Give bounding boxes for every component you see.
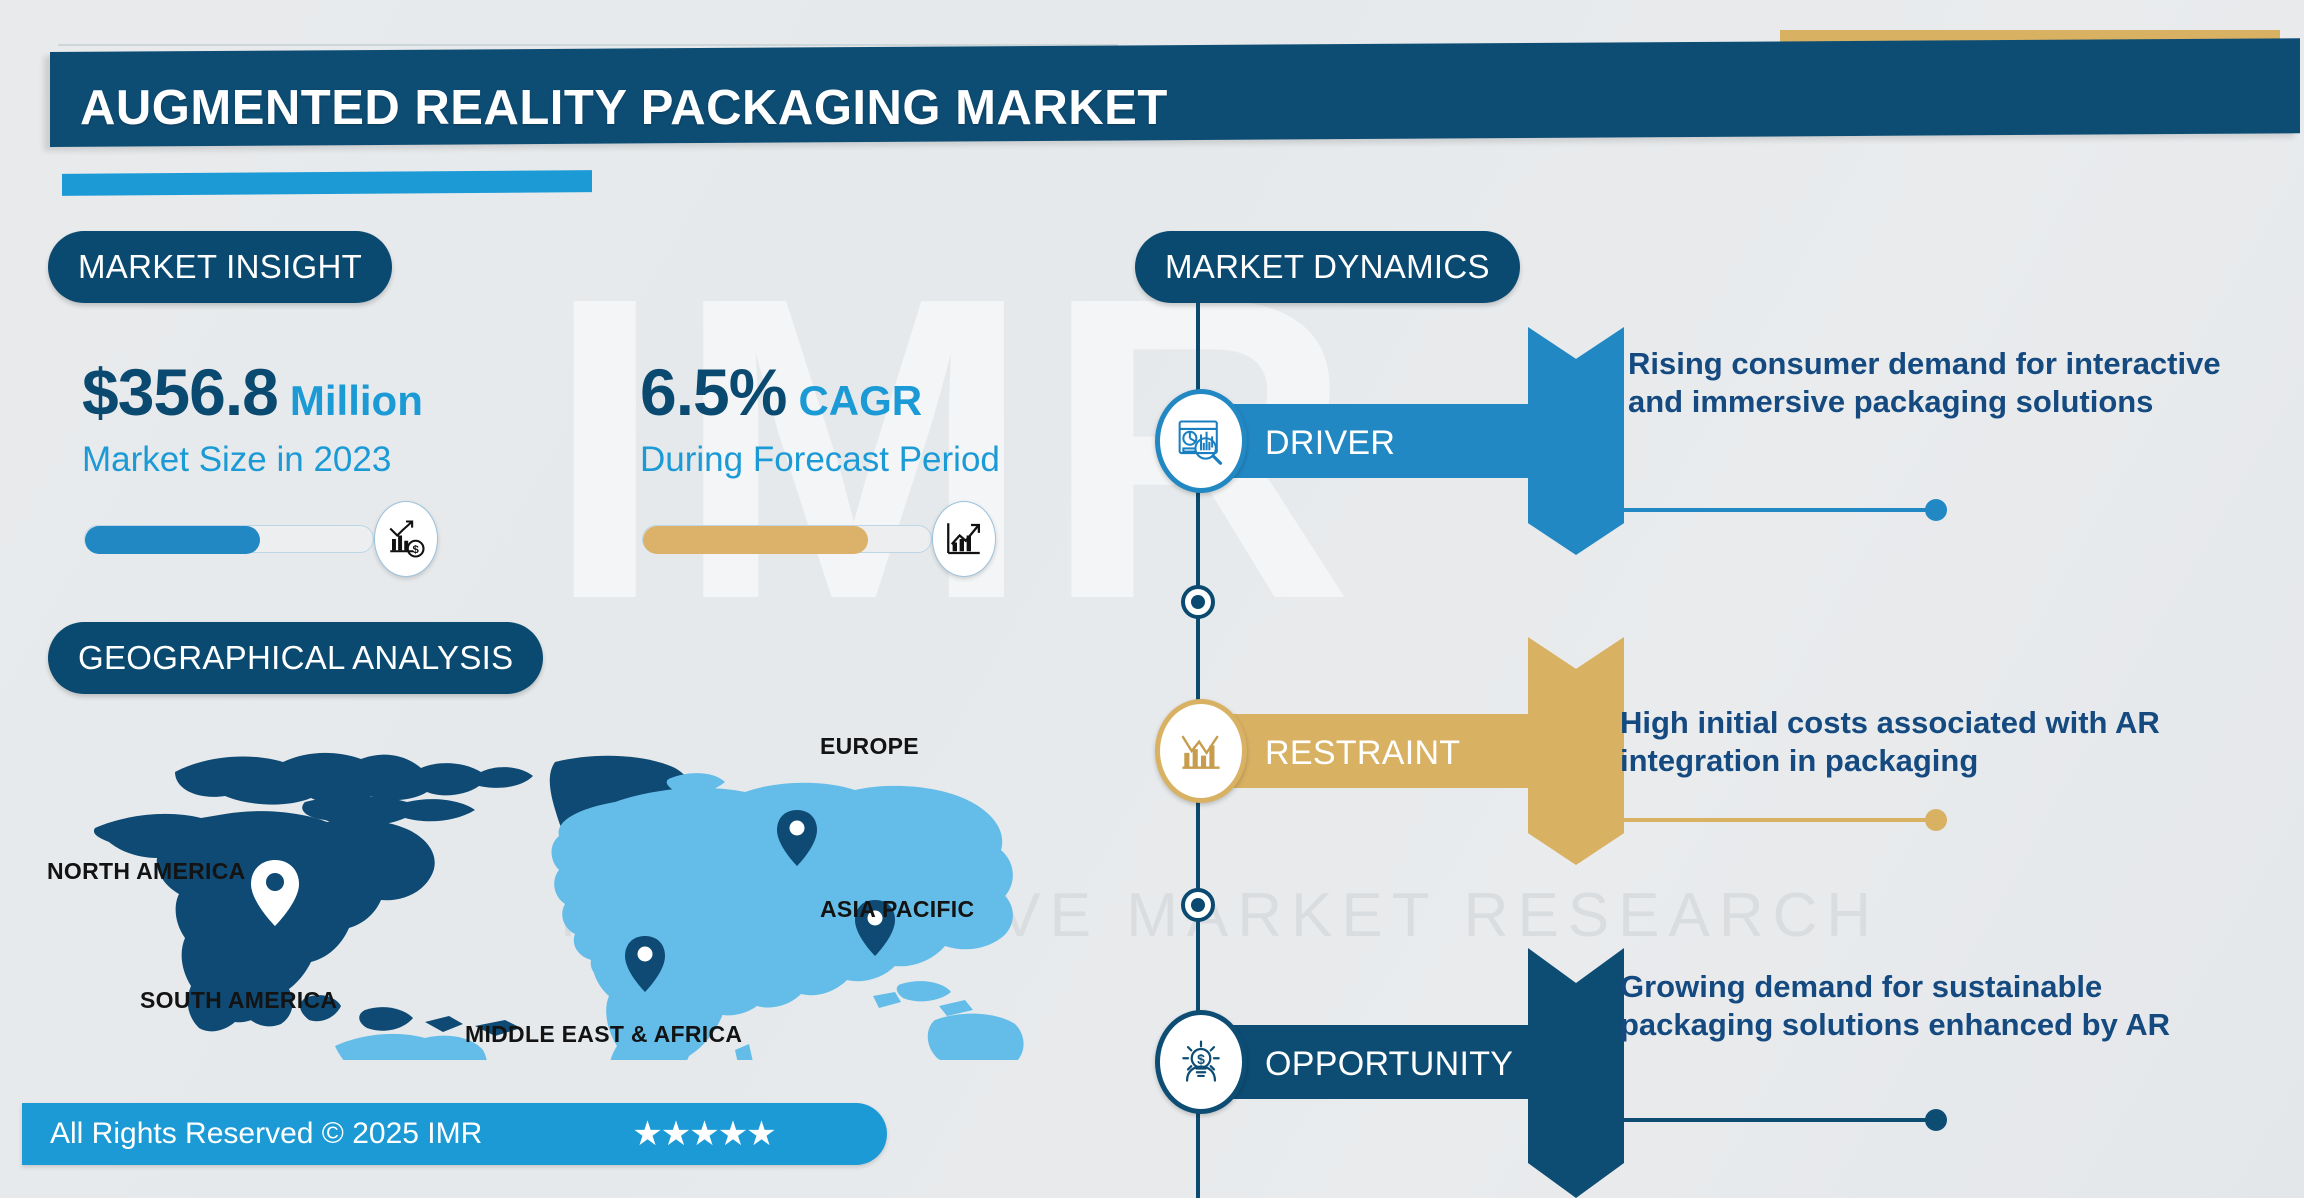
kpi-market-size: $356.8Million Market Size in 2023 <box>82 354 423 480</box>
map-label-south-america: SOUTH AMERICA <box>140 987 337 1014</box>
section-pill-market-dynamics: MARKET DYNAMICS <box>1135 231 1520 303</box>
section-pill-geographical-analysis: GEOGRAPHICAL ANALYSIS <box>48 622 543 694</box>
svg-text:$: $ <box>1197 1051 1205 1067</box>
growth-chart-icon-svg <box>943 518 985 560</box>
kpi-cagr-caption: During Forecast Period <box>640 440 1000 480</box>
restraint-description: High initial costs associated with AR in… <box>1620 704 2260 780</box>
restraint-rule <box>1620 818 1930 822</box>
footer-copyright: All Rights Reserved © 2025 IMR <box>50 1117 482 1151</box>
growth-chart-icon <box>932 501 996 577</box>
kpi-cagr: 6.5%CAGR During Forecast Period <box>640 354 1000 480</box>
declining-bar-chart-icon <box>1155 699 1247 803</box>
driver-description: Rising consumer demand for interactive a… <box>1628 345 2268 421</box>
restraint-category-label: RESTRAINT <box>1265 734 1460 773</box>
driver-category-label: DRIVER <box>1265 424 1395 463</box>
progress-bar-cagr <box>642 525 932 553</box>
lightbulb-dollar-icon: $ <box>1155 1010 1247 1114</box>
declining-bar-chart-icon-svg <box>1175 725 1227 777</box>
kpi-cagr-unit: CAGR <box>798 377 922 425</box>
driver-dot <box>1925 499 1947 521</box>
dynamics-node-2 <box>1181 888 1215 922</box>
kpi-market-size-caption: Market Size in 2023 <box>82 440 423 480</box>
kpi-market-size-value: $356.8 <box>82 354 278 430</box>
dynamics-node-1 <box>1181 585 1215 619</box>
map-label-north-america: NORTH AMERICA <box>47 858 246 885</box>
opportunity-category-label: OPPORTUNITY <box>1265 1045 1513 1084</box>
page-title: AUGMENTED REALITY PACKAGING MARKET <box>80 80 1168 136</box>
map-label-asia-pacific: ASIA PACIFIC <box>820 896 974 923</box>
kpi-cagr-value: 6.5% <box>640 354 786 430</box>
driver-rule <box>1620 508 1930 512</box>
rating-stars-icon: ★★★★★ <box>632 1114 774 1154</box>
restraint-dot <box>1925 809 1947 831</box>
dashboard-analytics-magnifier-icon-svg <box>1175 415 1227 467</box>
opportunity-dot <box>1925 1109 1947 1131</box>
section-pill-market-insight: MARKET INSIGHT <box>48 231 392 303</box>
footer-bar: All Rights Reserved © 2025 IMR ★★★★★ <box>22 1103 887 1165</box>
lightbulb-dollar-icon-svg: $ <box>1175 1036 1227 1088</box>
header-underbar <box>62 170 592 196</box>
progress-fill <box>643 526 868 554</box>
bar-chart-dollar-icon: $ <box>374 501 438 577</box>
progress-fill <box>85 526 260 554</box>
opportunity-description: Growing demand for sustainable packaging… <box>1620 968 2260 1044</box>
opportunity-rule <box>1620 1118 1930 1122</box>
progress-bar-market-size <box>84 525 374 553</box>
infographic-canvas: IMR PROSPECTIVE MARKET RESEARCH AUGMENTE… <box>0 0 2304 1198</box>
map-label-europe: EUROPE <box>820 733 919 760</box>
svg-text:$: $ <box>412 544 419 556</box>
kpi-market-size-unit: Million <box>290 377 423 425</box>
dashboard-analytics-magnifier-icon <box>1155 389 1247 493</box>
bar-chart-dollar-icon-svg: $ <box>385 518 427 560</box>
map-label-middle-east-africa: MIDDLE EAST & AFRICA <box>465 1021 742 1048</box>
